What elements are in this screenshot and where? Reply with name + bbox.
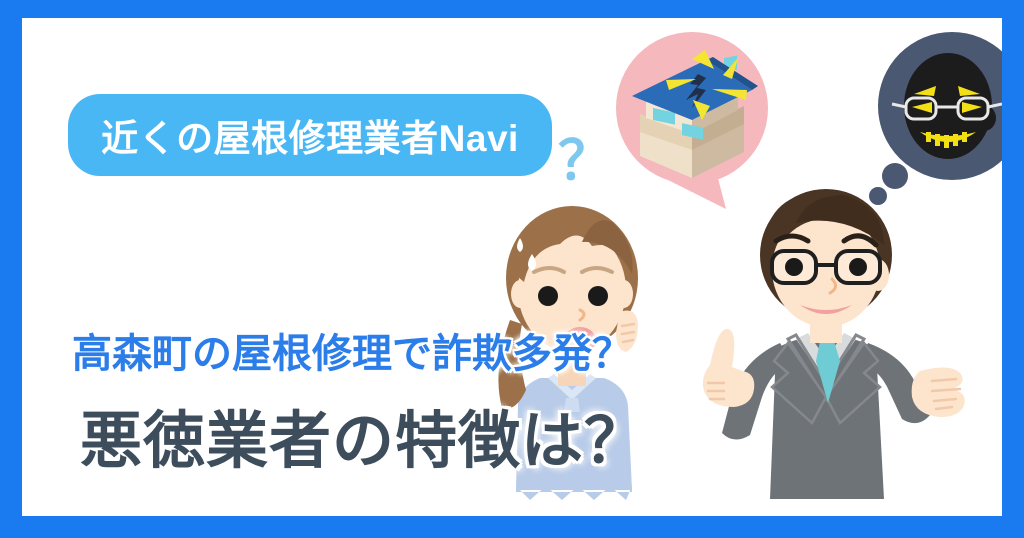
- open-palm-hand: [912, 367, 965, 417]
- banner-inner-card: 近くの屋根修理業者Navi ？ 高森町の屋根修理で詐欺多発？ 悪徳業者の特徴は？: [22, 18, 1002, 516]
- headline-main: 悪徳業者の特徴は？: [80, 390, 647, 480]
- headline-subtitle: 高森町の屋根修理で詐欺多発？: [72, 321, 632, 379]
- woman-eye-right: [588, 286, 608, 306]
- question-mark-accent: ？: [558, 116, 612, 195]
- pointing-businessman: [684, 183, 968, 516]
- shady-contractor-thought-bubble: [862, 28, 1002, 206]
- man-eye-right: [849, 258, 867, 276]
- site-name-badge-label: 近くの屋根修理業者Navi: [101, 108, 519, 162]
- banner-canvas: 近くの屋根修理業者Navi ？ 高森町の屋根修理で詐欺多発？ 悪徳業者の特徴は？: [0, 0, 1024, 538]
- woman-eye-left: [538, 286, 558, 306]
- pointing-hand: [703, 329, 754, 407]
- man-eye-left: [785, 258, 803, 276]
- site-name-badge[interactable]: 近くの屋根修理業者Navi: [68, 94, 552, 176]
